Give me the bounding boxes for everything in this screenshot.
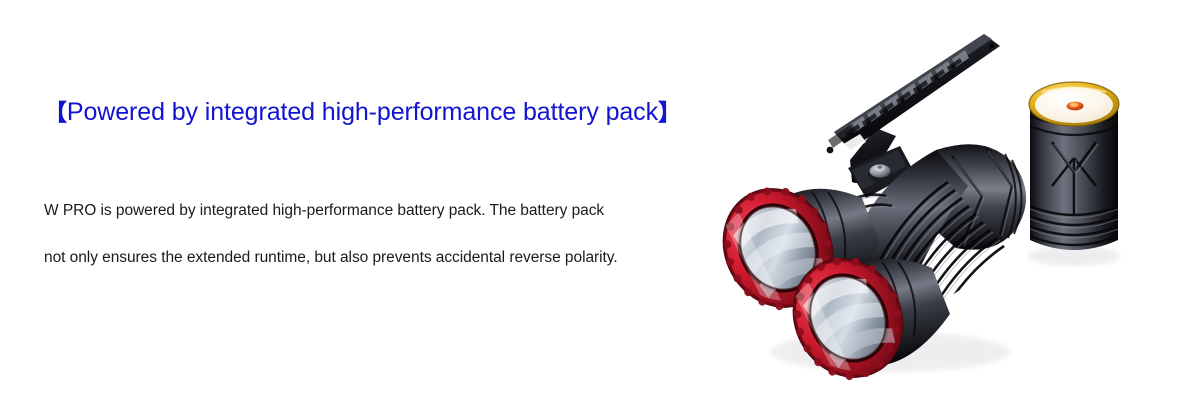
bracket-close-glyph: 】 <box>658 100 681 126</box>
body-paragraph-line-1: W PRO is powered by integrated high-perf… <box>44 202 724 220</box>
copy-block: 【Powered by integrated high-performance … <box>44 92 724 267</box>
body-paragraph-line-2: not only ensures the extended runtime, b… <box>44 249 724 267</box>
headline: 【Powered by integrated high-performance … <box>44 92 724 133</box>
product-feature-banner: 【Powered by integrated high-performance … <box>0 0 1200 400</box>
battery-pack <box>1029 82 1119 250</box>
rail-bar <box>834 34 1000 150</box>
handle-lower-hole <box>827 147 834 154</box>
product-photo <box>700 0 1200 400</box>
headline-text: Powered by integrated high-performance b… <box>67 98 658 126</box>
bracket-open-glyph: 【 <box>44 100 67 126</box>
